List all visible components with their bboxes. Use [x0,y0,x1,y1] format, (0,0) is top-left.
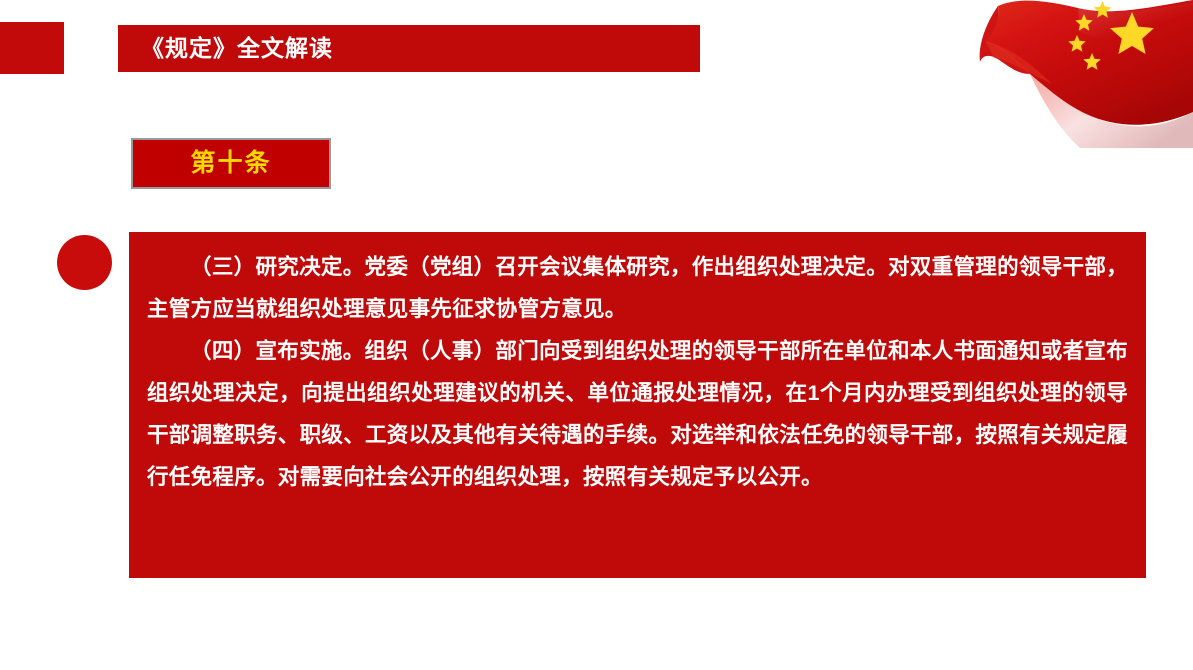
article-heading-box: 第十条 [131,138,331,189]
article-heading-label: 第十条 [190,151,271,176]
bullet-circle-marker [57,235,112,290]
page-title: 《规定》全文解读 [118,37,333,60]
header-title-bar: 《规定》全文解读 [118,25,700,72]
slide-canvas: 《规定》全文解读 [0,0,1193,670]
chinese-national-flag-icon [960,0,1193,148]
content-paragraph-3: （三）研究决定。党委（党组）召开会议集体研究，作出组织处理决定。对双重管理的领导… [147,246,1128,330]
content-paragraph-4: （四）宣布实施。组织（人事）部门向受到组织处理的领导干部所在单位和本人书面通知或… [147,330,1128,498]
header-accent-block [0,22,64,74]
content-panel: （三）研究决定。党委（党组）召开会议集体研究，作出组织处理决定。对双重管理的领导… [129,232,1146,578]
